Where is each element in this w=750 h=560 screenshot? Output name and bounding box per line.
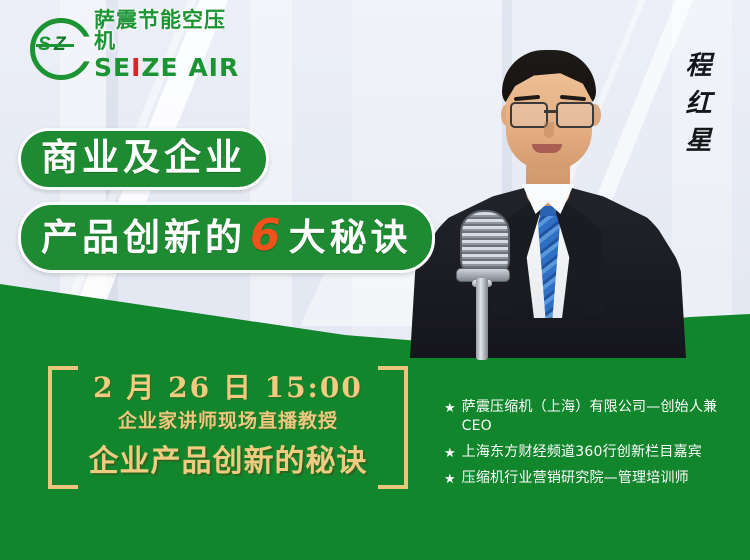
speaker-name-vertical: 程 红 星 xyxy=(676,48,722,161)
logo-wordmark: 萨震节能空压机 SEIZE AIR xyxy=(94,10,246,80)
headline-number: 6 xyxy=(246,210,289,261)
promo-banner: S Z 萨震节能空压机 SEIZE AIR 商业及企业 产品创新的6大秘诀 2 … xyxy=(0,0,750,560)
logo-name-cn: 萨震节能空压机 xyxy=(94,10,246,52)
event-subtitle: 企业家讲师现场直播教授 xyxy=(88,406,368,433)
headline-line-1: 商业及企业 xyxy=(41,136,246,179)
speaker-name-char: 星 xyxy=(676,123,722,161)
credential-text: 萨震压缩机（上海）有限公司—创始人兼CEO xyxy=(462,398,744,436)
event-topic: 企业产品创新的秘诀 xyxy=(70,436,386,480)
headline-pill-1: 商业及企业 xyxy=(18,128,269,190)
microphone-stem xyxy=(476,278,488,360)
headline-line-2-a: 产品创新的 xyxy=(41,216,246,259)
star-icon: ★ xyxy=(444,398,456,417)
credentials-list: ★ 萨震压缩机（上海）有限公司—创始人兼CEO ★ 上海东方财经频道360行创新… xyxy=(444,398,744,495)
credential-text: 压缩机行业营销研究院—管理培训师 xyxy=(462,469,689,488)
logo-name-en-highlight: I xyxy=(131,53,141,82)
logo-name-en: SEIZE AIR xyxy=(94,55,246,80)
headline-pill-2: 产品创新的6大秘诀 xyxy=(18,202,435,273)
list-item: ★ 上海东方财经频道360行创新栏目嘉宾 xyxy=(444,443,744,462)
microphone-head xyxy=(460,210,510,276)
logo-bar xyxy=(36,44,74,47)
speaker-name-char: 程 xyxy=(676,48,722,86)
speaker-name-char: 红 xyxy=(676,86,722,124)
list-item: ★ 萨震压缩机（上海）有限公司—创始人兼CEO xyxy=(444,398,744,436)
list-item: ★ 压缩机行业营销研究院—管理培训师 xyxy=(444,469,744,488)
logo-name-en-part2: ZE AIR xyxy=(141,53,239,82)
speaker-photo xyxy=(398,18,698,348)
eyeglasses-lens xyxy=(510,102,548,128)
headline-block: 商业及企业 产品创新的6大秘诀 xyxy=(18,128,435,285)
mouth xyxy=(532,144,562,153)
eyeglasses-lens xyxy=(556,102,594,128)
star-icon: ★ xyxy=(444,443,456,462)
headline-line-2-b: 大秘诀 xyxy=(289,216,412,259)
headline-line-2: 产品创新的6大秘诀 xyxy=(41,216,412,259)
event-date-time: 2 月 26 日 15:00 xyxy=(88,366,368,406)
event-block: 2 月 26 日 15:00 企业家讲师现场直播教授 企业产品创新的秘诀 xyxy=(48,362,408,492)
brand-logo[interactable]: S Z 萨震节能空压机 SEIZE AIR xyxy=(26,14,246,76)
star-icon: ★ xyxy=(444,469,456,488)
eyeglasses-bridge xyxy=(544,110,556,113)
logo-name-en-part1: SE xyxy=(94,53,131,82)
microphone-icon xyxy=(454,210,510,358)
sz-circle-logo-icon: S Z xyxy=(26,16,88,74)
credential-text: 上海东方财经频道360行创新栏目嘉宾 xyxy=(462,443,702,462)
nose xyxy=(544,122,554,138)
